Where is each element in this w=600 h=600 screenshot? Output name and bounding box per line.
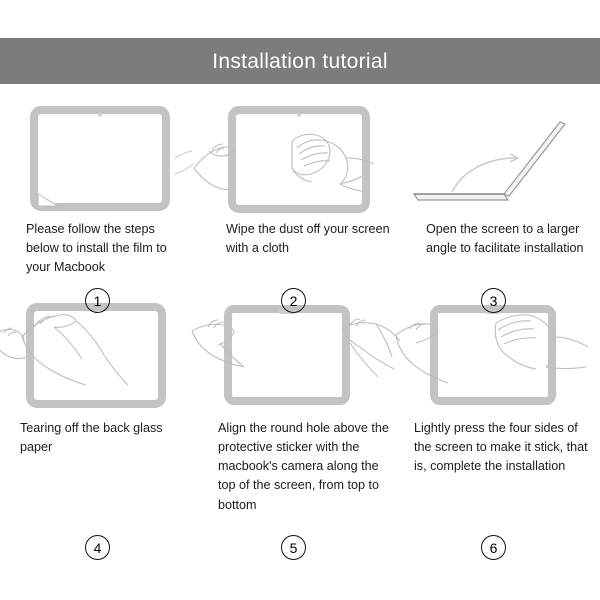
tutorial-page: Installation tutorial Please fo <box>0 0 600 600</box>
step-6-caption: Lightly press the four sides of the scre… <box>400 419 600 476</box>
step-5-illustration <box>200 297 400 415</box>
step-number-6: 6 <box>481 535 506 560</box>
step-number-5: 5 <box>281 535 306 560</box>
step-number-2: 2 <box>281 288 306 313</box>
page-title: Installation tutorial <box>212 51 388 72</box>
step-3-caption: Open the screen to a larger angle to fac… <box>400 220 600 258</box>
step-number-1: 1 <box>85 288 110 313</box>
step-panel-2: Wipe the dust off your screen with a clo… <box>200 96 400 297</box>
step-3-illustration <box>400 96 600 214</box>
step-panel-3: Open the screen to a larger angle to fac… <box>400 96 600 297</box>
step-panel-5: Align the round hole above the protectiv… <box>200 297 400 537</box>
step-2-caption: Wipe the dust off your screen with a clo… <box>200 220 400 258</box>
step-5-caption: Align the round hole above the protectiv… <box>200 419 400 515</box>
step-6-illustration <box>400 297 600 415</box>
step-panel-6: Lightly press the four sides of the scre… <box>400 297 600 537</box>
header-bar: Installation tutorial <box>0 38 600 84</box>
step-1-illustration <box>0 96 200 214</box>
step-panel-4: Tearing off the back glass paper <box>0 297 200 537</box>
step-number-4: 4 <box>85 535 110 560</box>
steps-grid: Please follow the steps below to install… <box>0 96 600 600</box>
step-1-caption: Please follow the steps below to install… <box>0 220 200 277</box>
step-4-caption: Tearing off the back glass paper <box>0 419 200 457</box>
step-4-illustration <box>0 297 200 415</box>
step-2-illustration <box>200 96 400 214</box>
step-panel-1: Please follow the steps below to install… <box>0 96 200 297</box>
step-number-3: 3 <box>481 288 506 313</box>
